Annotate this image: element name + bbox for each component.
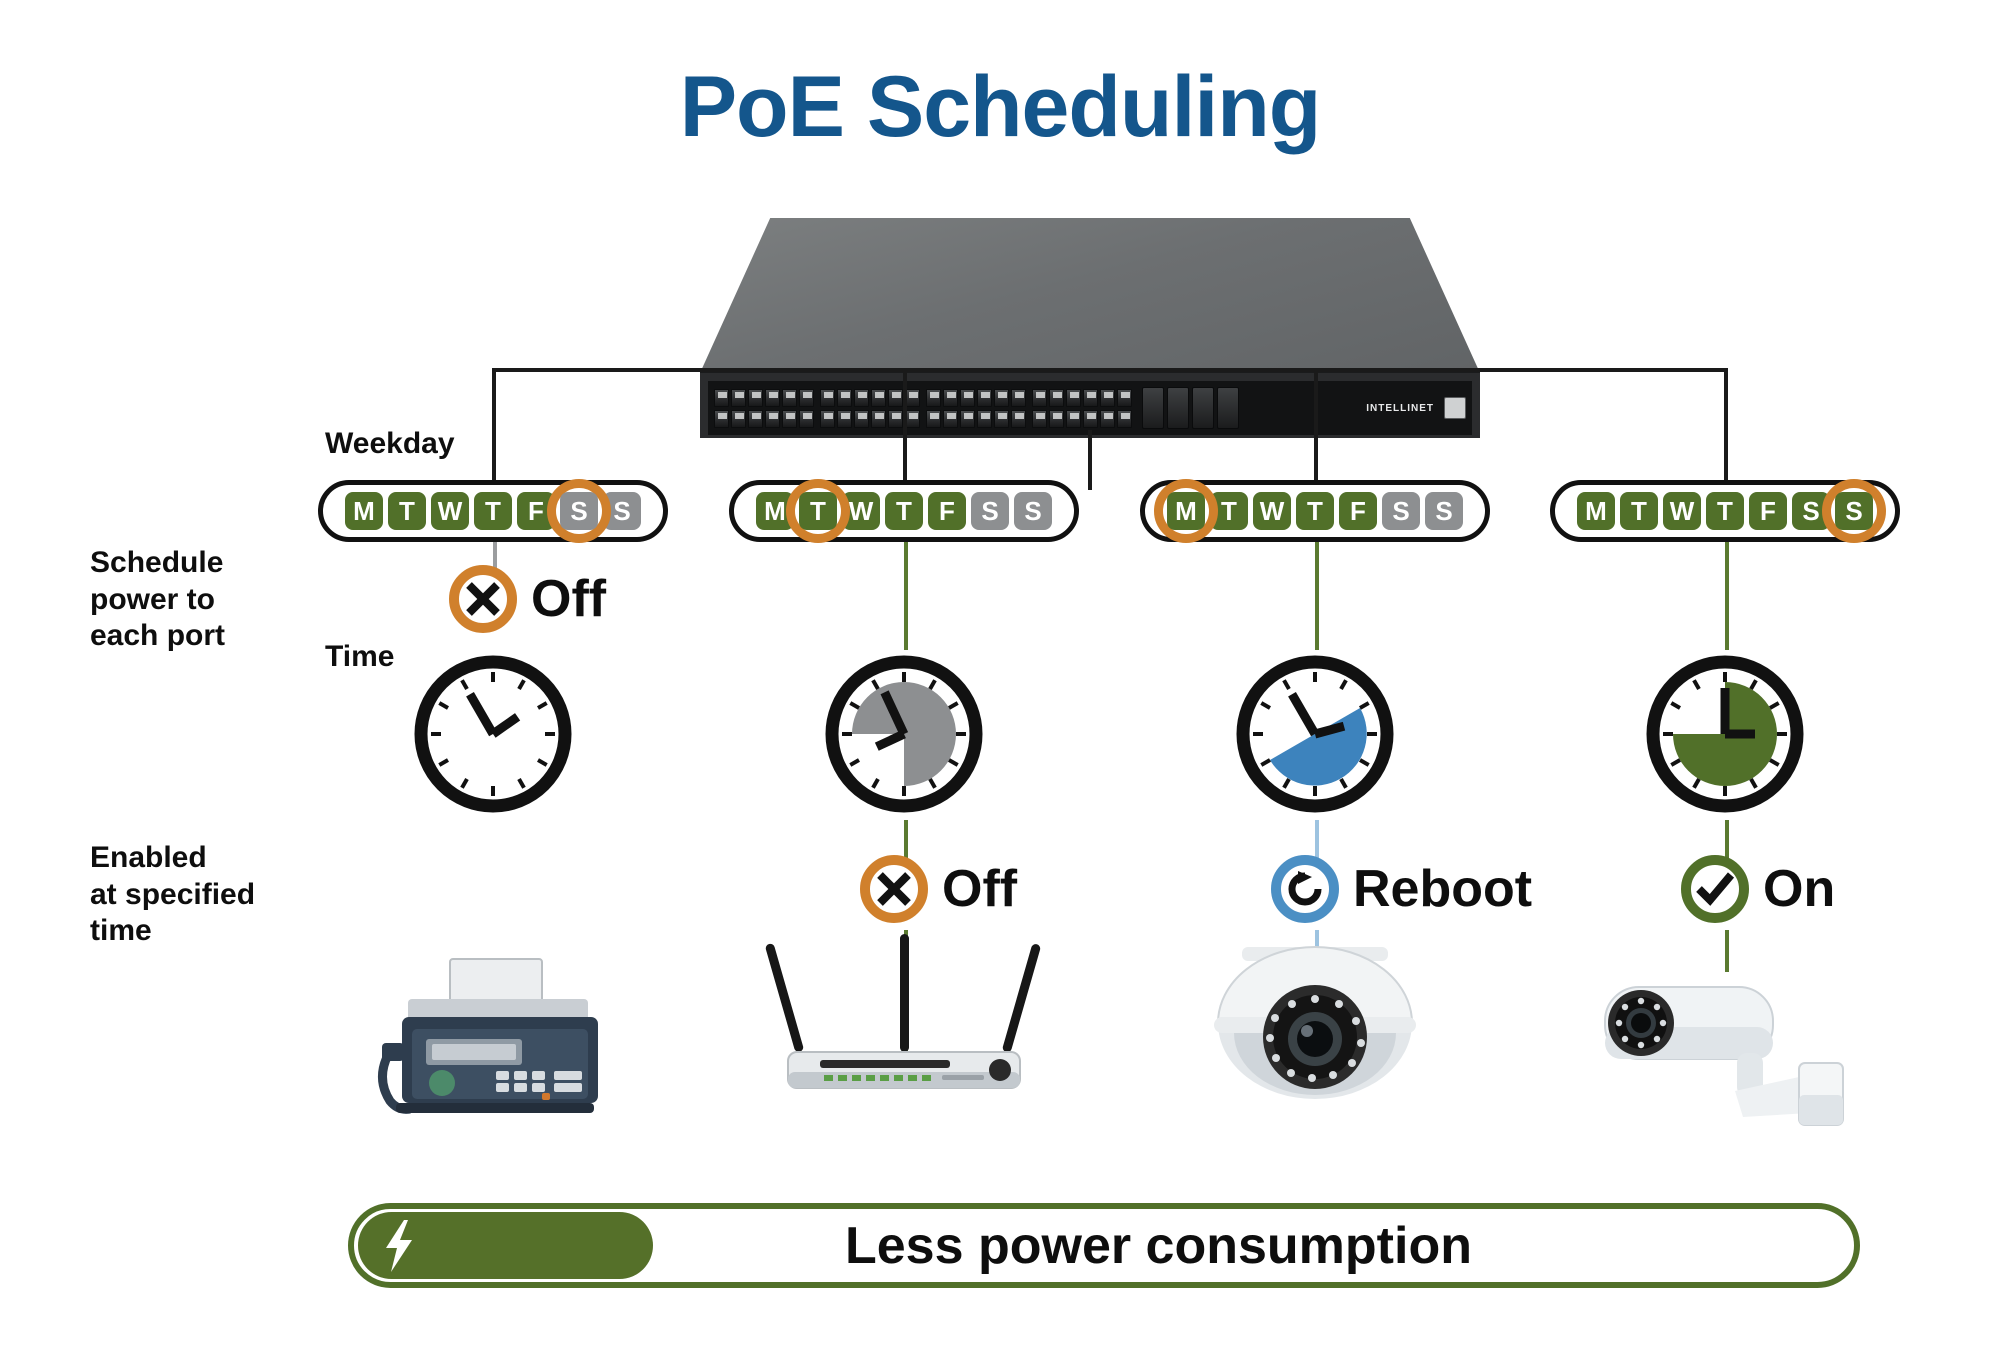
port-group [714,389,814,428]
day-toggle-dome-camera-5[interactable]: S [1382,492,1420,530]
enabled-line-1: Enabled [90,840,360,877]
fax-machine-icon [368,955,618,1145]
infographic-canvas: PoE Scheduling INTELLINET Weekday Time S… [0,0,2000,1362]
schedule-power-label: Schedule power to each port [90,545,360,655]
page-title: PoE Scheduling [0,58,2000,157]
day-label: F [1339,492,1377,530]
wireless-router [764,930,1044,1115]
rj45-port-pair [837,389,852,428]
rj45-port [871,410,886,428]
day-toggle-router-5[interactable]: S [971,492,1009,530]
branch-line-2 [903,368,907,480]
day-toggle-dome-camera-2[interactable]: W [1253,492,1291,530]
rj45-port-pair [888,389,903,428]
rj45-port [1117,410,1132,428]
rj45-port [782,410,797,428]
rj45-port-pair [1100,389,1115,428]
status-badge-fax: Off [449,565,606,633]
rj45-port-pair [820,389,835,428]
lightning-bolt-icon [382,1220,416,1272]
rj45-port-pair [943,389,958,428]
day-toggle-router-4[interactable]: F [928,492,966,530]
green-line-2a [904,540,908,650]
rj45-port [731,410,746,428]
day-label: F [1749,492,1787,530]
status-label: Off [942,859,1017,919]
status-badge-dome-camera: Reboot [1271,855,1532,923]
rj45-port [714,389,729,407]
x-icon [463,579,503,619]
rj45-port [854,389,869,407]
rj45-port-pair [1117,389,1132,428]
day-toggle-router-6[interactable]: S [1014,492,1052,530]
day-toggle-fax-3[interactable]: T [474,492,512,530]
status-label: On [1763,859,1835,919]
day-toggle-router-3[interactable]: T [885,492,923,530]
day-toggle-dome-camera-4[interactable]: F [1339,492,1377,530]
rj45-port-pair [960,389,975,428]
switch-brand-logo: INTELLINET [1366,403,1438,414]
rj45-port [837,410,852,428]
dome-camera [1200,945,1430,1110]
port-group [1032,389,1132,428]
schedule-power-line-1: Schedule [90,545,360,582]
reload-circle-icon [1271,855,1339,923]
rj45-port-pair [994,389,1009,428]
day-toggle-fax-5[interactable]: S [560,492,598,530]
poe-network-switch: INTELLINET [700,218,1480,438]
rj45-port-pair [926,389,941,428]
schedule-clock-dome-camera [1229,648,1401,820]
day-label: S [560,492,598,530]
rj45-port-pair [871,389,886,428]
rj45-port [1032,389,1047,407]
dome-camera-icon [1200,945,1430,1105]
rj45-port [994,410,1009,428]
rj45-port [820,410,835,428]
day-label: S [971,492,1009,530]
enabled-line-2: at specified [90,877,360,914]
rj45-port-pair [1049,389,1064,428]
x-icon [874,869,914,909]
rj45-port [782,389,797,407]
day-label: S [1835,492,1873,530]
rj45-port-pair [1083,389,1098,428]
switch-port-panel: INTELLINET [708,381,1472,435]
rj45-port [926,389,941,407]
day-toggle-fax-2[interactable]: W [431,492,469,530]
day-toggle-bullet-camera-4[interactable]: F [1749,492,1787,530]
switch-front-panel: INTELLINET [700,370,1480,438]
rj45-port [1100,389,1115,407]
branch-line-4 [1724,368,1728,480]
day-label: T [1296,492,1334,530]
schedule-clock-bullet-camera [1639,648,1811,820]
weekday-selector-dome-camera[interactable]: MTWTFSS [1140,480,1490,542]
day-label: M [345,492,383,530]
rj45-port [1049,410,1064,428]
day-label: S [1014,492,1052,530]
rj45-port [943,410,958,428]
day-toggle-fax-1[interactable]: T [388,492,426,530]
battery-fill-indicator [358,1212,653,1279]
rj45-port [837,389,852,407]
status-label: Off [531,569,606,629]
rj45-port [854,410,869,428]
rj45-port [905,389,920,407]
x-circle-icon [449,565,517,633]
rj45-port-pair [977,389,992,428]
rj45-port [1066,389,1081,407]
rj45-port-pair [1066,389,1081,428]
day-label: W [431,492,469,530]
rj45-port [1011,410,1026,428]
green-line-3a [1315,540,1319,650]
day-label: T [1620,492,1658,530]
rj45-port-pair [731,389,746,428]
schedule-clock-router [818,648,990,820]
rj45-port-pair [799,389,814,428]
status-label: Reboot [1353,859,1532,919]
rj45-port-pair [714,389,729,428]
rj45-port-pair [748,389,763,428]
sfp-port [1167,387,1189,429]
schedule-clock-fax [407,648,579,820]
rj45-port [748,410,763,428]
rj45-port [748,389,763,407]
check-icon [1694,868,1736,910]
branch-line-1 [492,368,496,480]
branch-line-3 [1314,368,1318,480]
rj45-port [714,410,729,428]
rj45-port [1032,410,1047,428]
port-group [926,389,1026,428]
day-toggle-bullet-camera-1[interactable]: T [1620,492,1658,530]
bullet-camera [1585,965,1875,1140]
day-toggle-bullet-camera-0[interactable]: M [1577,492,1615,530]
wireless-router-icon [764,930,1044,1110]
rj45-port [960,389,975,407]
clock-face-fax [407,648,579,820]
rj45-port-pair [905,389,920,428]
switch-drop-line [1088,430,1092,490]
rj45-port-pair [782,389,797,428]
day-toggle-bullet-camera-2[interactable]: W [1663,492,1701,530]
status-badge-bullet-camera: On [1681,855,1835,923]
day-label: W [1663,492,1701,530]
day-toggle-bullet-camera-6[interactable]: S [1835,492,1873,530]
weekday-label: Weekday [325,427,455,461]
rj45-port [765,410,780,428]
sfp-port [1142,387,1164,429]
rj45-port [1100,410,1115,428]
rj45-port-pair [1032,389,1047,428]
day-label: S [1425,492,1463,530]
weekday-selector-fax[interactable]: MTWTFSS [318,480,668,542]
rj45-port [871,389,886,407]
weekday-selector-bullet-camera[interactable]: MTWTFSS [1550,480,1900,542]
rj45-port [977,410,992,428]
schedule-power-line-3: each port [90,618,360,655]
day-label: T [388,492,426,530]
day-label: T [474,492,512,530]
status-badge-router: Off [860,855,1017,923]
rj45-port [731,389,746,407]
switch-chassis-top [700,218,1480,373]
rj45-port [820,389,835,407]
enabled-at-time-label: Enabled at specified time [90,840,360,950]
banner-text: Less power consumption [653,1216,1854,1276]
day-toggle-dome-camera-3[interactable]: T [1296,492,1334,530]
day-label: M [1577,492,1615,530]
bus-horizontal-line [492,368,1728,372]
sfp-port [1217,387,1239,429]
day-label: T [1706,492,1744,530]
schedule-power-line-2: power to [90,582,360,619]
rj45-port [1049,389,1064,407]
rj45-port [1066,410,1081,428]
clock-face-dome-camera [1229,648,1401,820]
green-line-4a [1725,540,1729,650]
day-toggle-router-1[interactable]: T [799,492,837,530]
check-circle-icon [1681,855,1749,923]
day-toggle-bullet-camera-3[interactable]: T [1706,492,1744,530]
clock-face-router [818,648,990,820]
enabled-line-3: time [90,913,360,950]
x-circle-icon [860,855,928,923]
rj45-port-pair [854,389,869,428]
rj45-port [1083,410,1098,428]
rj45-port [888,389,903,407]
sfp-port-group [1142,387,1239,429]
sfp-port [1192,387,1214,429]
clock-face-bullet-camera [1639,648,1811,820]
fax-machine [368,955,618,1150]
rj45-port-pair [765,389,780,428]
reload-icon [1284,868,1326,910]
rj45-port [905,410,920,428]
rj45-port [799,410,814,428]
rj45-port-pair [1011,389,1026,428]
weekday-selector-router[interactable]: MTWTFSS [729,480,1079,542]
rj45-port [1117,389,1132,407]
rj45-port [1011,389,1026,407]
rj45-port [799,389,814,407]
day-label: W [1253,492,1291,530]
bullet-camera-icon [1585,965,1875,1135]
rj45-port [977,389,992,407]
day-label: T [799,492,837,530]
day-toggle-dome-camera-6[interactable]: S [1425,492,1463,530]
rj45-port [994,389,1009,407]
rj45-port [926,410,941,428]
rj45-port [765,389,780,407]
day-label: T [885,492,923,530]
rj45-port [960,410,975,428]
less-power-banner: Less power consumption [348,1203,1860,1288]
day-label: M [1167,492,1205,530]
day-label: S [1382,492,1420,530]
rj45-port [943,389,958,407]
day-toggle-dome-camera-0[interactable]: M [1167,492,1205,530]
rj45-port [1083,389,1098,407]
management-port [1444,397,1466,419]
day-toggle-fax-0[interactable]: M [345,492,383,530]
rj45-port [888,410,903,428]
day-label: F [928,492,966,530]
